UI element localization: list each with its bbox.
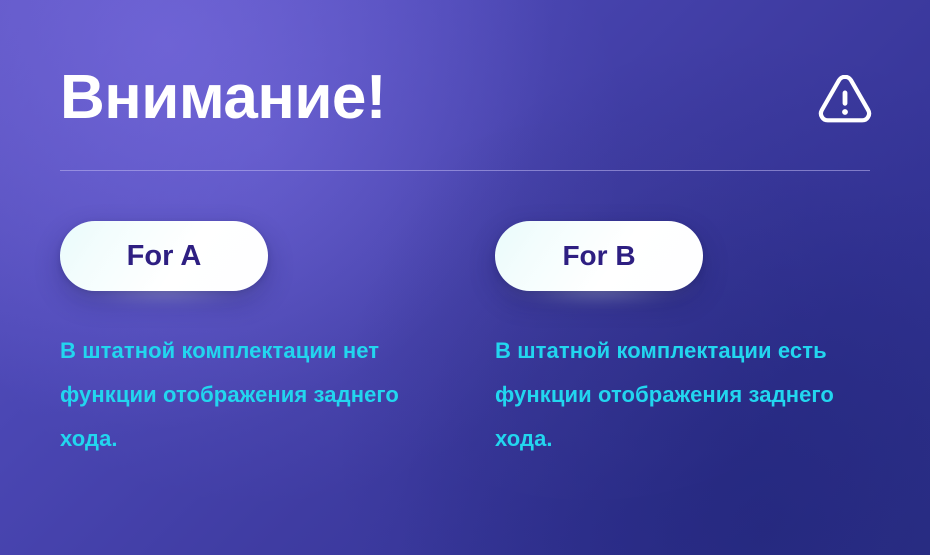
comparison-columns: For A В штатной комплектации нет функции… <box>60 221 870 483</box>
pill-wrapper-a: For A <box>60 221 268 291</box>
warning-slide: Внимание! For A В штатной комплектации н… <box>0 0 930 555</box>
column-for-b: For B В штатной комплектации есть функци… <box>495 221 703 483</box>
for-b-description: В штатной комплектации есть функции отоб… <box>495 329 875 461</box>
for-a-button[interactable]: For A <box>60 221 268 291</box>
page-title: Внимание! <box>60 67 386 129</box>
warning-triangle-icon <box>818 71 872 125</box>
for-b-button[interactable]: For B <box>495 221 703 291</box>
column-for-a: For A В штатной комплектации нет функции… <box>60 221 268 483</box>
for-a-description: В штатной комплектации нет функции отобр… <box>60 329 440 461</box>
slide-header: Внимание! <box>60 52 872 144</box>
header-divider <box>60 170 870 171</box>
pill-wrapper-b: For B <box>495 221 703 291</box>
